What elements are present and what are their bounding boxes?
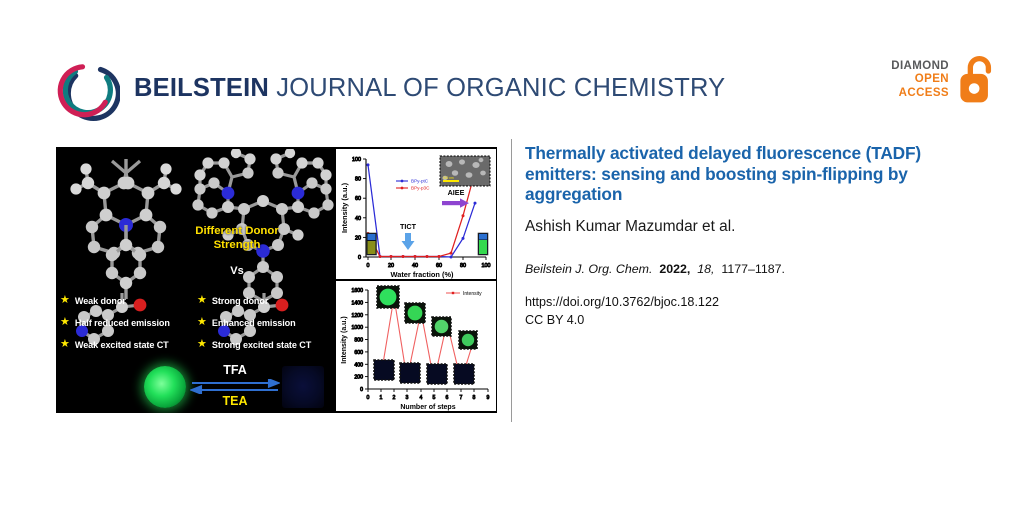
bullet-label: Strong donor	[212, 296, 268, 306]
star-icon: ★	[60, 295, 70, 306]
svg-text:40: 40	[355, 216, 361, 222]
article-title: Thermally activated delayed fluorescence…	[525, 143, 980, 205]
svg-text:Intensity (a.u.): Intensity (a.u.)	[341, 316, 348, 363]
svg-text:7: 7	[460, 395, 463, 401]
svg-text:5: 5	[433, 395, 436, 401]
svg-text:400: 400	[354, 362, 363, 368]
svg-text:0: 0	[358, 255, 361, 261]
svg-text:1200: 1200	[351, 313, 363, 319]
bullet-item: ★ Weak excited state CT	[60, 339, 195, 350]
svg-text:200: 200	[354, 375, 363, 381]
star-icon: ★	[197, 339, 207, 350]
aiee-annotation: AIEE	[448, 188, 465, 197]
bullet-label: Weak donor	[75, 296, 126, 306]
article-citation: Beilstein J. Org. Chem. 2022, 18, 1177–1…	[525, 261, 980, 278]
open-access-line-open: OPEN	[891, 73, 949, 86]
reaction-arrows-icon	[190, 379, 280, 394]
green-emitting-vial	[144, 366, 186, 408]
svg-text:1: 1	[380, 395, 383, 401]
content-divider	[511, 139, 512, 422]
tict-annotation: TICT	[400, 222, 417, 231]
reaction-arrows-group: TFA TEA	[190, 364, 280, 409]
wordmark-bold: BEILSTEIN	[134, 74, 269, 102]
donor-strength-line1: Different Donor	[182, 225, 292, 239]
donor-strength-heading: Different Donor Strength	[182, 225, 292, 253]
citation-journal: Beilstein J. Org. Chem.	[525, 262, 652, 276]
diamond-open-access-badge: DIAMOND OPEN ACCESS	[891, 55, 996, 105]
svg-text:60: 60	[436, 263, 442, 269]
article-cover-card: BEILSTEIN JOURNAL OF ORGANIC CHEMISTRY D…	[0, 0, 1024, 512]
sem-micrograph-inset: 500 nm	[440, 156, 490, 186]
tea-label: TEA	[190, 395, 280, 409]
svg-text:Intensity (a.u.): Intensity (a.u.)	[340, 182, 349, 233]
svg-text:2: 2	[393, 395, 396, 401]
wordmark-light: JOURNAL OF ORGANIC CHEMISTRY	[276, 74, 725, 102]
svg-text:Number of steps: Number of steps	[400, 404, 455, 411]
bullet-item: ★ Enhanced emission	[197, 317, 332, 328]
donor-strength-line2: Strength	[182, 239, 292, 253]
journal-wordmark: BEILSTEIN JOURNAL OF ORGANIC CHEMISTRY	[134, 76, 725, 105]
svg-text:100: 100	[482, 263, 491, 269]
dark-quenched-vial	[282, 366, 324, 408]
svg-text:Water fraction (%): Water fraction (%)	[391, 270, 454, 279]
svg-text:6: 6	[446, 395, 449, 401]
svg-text:1600: 1600	[351, 288, 363, 294]
citation-volume: 18,	[697, 262, 714, 276]
bullet-label: Half reduced emission	[75, 318, 170, 328]
svg-text:1000: 1000	[351, 325, 363, 331]
svg-text:0: 0	[367, 395, 370, 401]
svg-text:800: 800	[354, 338, 363, 344]
star-icon: ★	[197, 317, 207, 328]
switching-cycles-plot: 0 1 2 3 4 5 6 7 8 9 0 200	[336, 281, 496, 411]
svg-text:600: 600	[354, 350, 363, 356]
comparison-bullet-grid: ★ Weak donor ★ Strong donor ★ Half reduc…	[60, 295, 332, 350]
journal-masthead: BEILSTEIN JOURNAL OF ORGANIC CHEMISTRY	[56, 52, 968, 128]
graphical-abstract-chart-column: 0 20 40 60 80 100 0 20 40 60 80 100	[335, 147, 497, 413]
svg-text:0: 0	[360, 387, 363, 393]
svg-text:0: 0	[367, 263, 370, 269]
beilstein-swirl-logo-icon	[56, 58, 120, 122]
citation-pages: 1177–1187.	[721, 262, 785, 276]
star-icon: ★	[60, 317, 70, 328]
svg-text:9: 9	[487, 395, 490, 401]
star-icon: ★	[197, 295, 207, 306]
article-license: CC BY 4.0	[525, 312, 980, 330]
article-doi-link[interactable]: https://doi.org/10.3762/bjoc.18.122	[525, 294, 980, 312]
tfa-label: TFA	[190, 364, 280, 378]
nitrogen-atom	[292, 187, 305, 200]
nitrogen-atom	[222, 187, 235, 200]
svg-text:80: 80	[460, 263, 466, 269]
cuvette-inset-right	[478, 233, 488, 255]
article-metadata: Thermally activated delayed fluorescence…	[525, 143, 980, 329]
svg-text:BPy-p3C: BPy-p3C	[411, 186, 430, 191]
open-access-line-diamond: DIAMOND	[891, 60, 949, 73]
bullet-item: ★ Strong excited state CT	[197, 339, 332, 350]
svg-text:500 nm: 500 nm	[443, 176, 454, 180]
svg-text:8: 8	[473, 395, 476, 401]
versus-label: Vs	[182, 265, 292, 277]
graphical-abstract-left-panel: Different Donor Strength Vs ★ Weak donor…	[56, 147, 335, 413]
svg-text:60: 60	[355, 196, 361, 202]
weak-donor-molecule-model	[62, 153, 190, 301]
aiee-water-fraction-plot: 0 20 40 60 80 100 0 20 40 60 80 100	[336, 149, 496, 279]
acid-base-switching-diagram: TFA TEA	[144, 364, 324, 410]
open-lock-icon	[958, 55, 996, 105]
open-access-label-group: DIAMOND OPEN ACCESS	[891, 60, 949, 100]
article-links: https://doi.org/10.3762/bjoc.18.122 CC B…	[525, 294, 980, 330]
bullet-item: ★ Strong donor	[197, 295, 332, 306]
svg-text:40: 40	[412, 263, 418, 269]
bullet-item: ★ Half reduced emission	[60, 317, 195, 328]
article-authors: Ashish Kumar Mazumdar et al.	[525, 217, 980, 236]
svg-text:3: 3	[406, 395, 409, 401]
svg-text:20: 20	[388, 263, 394, 269]
svg-text:Intensity: Intensity	[463, 291, 482, 297]
bullet-item: ★ Weak donor	[60, 295, 195, 306]
citation-year: 2022,	[659, 262, 690, 276]
bullet-label: Strong excited state CT	[212, 340, 311, 350]
graphical-abstract-image: Different Donor Strength Vs ★ Weak donor…	[56, 147, 497, 413]
star-icon: ★	[60, 339, 70, 350]
open-access-line-access: ACCESS	[891, 87, 949, 100]
cuvette-inset-left	[367, 233, 377, 255]
svg-text:20: 20	[355, 235, 361, 241]
bullet-label: Weak excited state CT	[75, 340, 169, 350]
svg-text:4: 4	[420, 395, 423, 401]
bullet-label: Enhanced emission	[212, 318, 296, 328]
svg-text:80: 80	[355, 177, 361, 183]
svg-text:1400: 1400	[351, 300, 363, 306]
svg-text:100: 100	[352, 157, 361, 163]
svg-text:BPy-ptC: BPy-ptC	[411, 179, 429, 184]
